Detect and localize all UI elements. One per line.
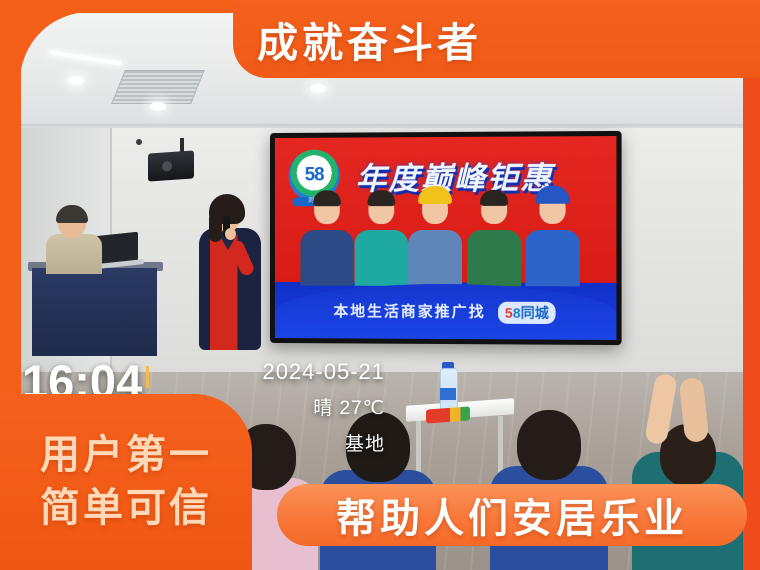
left-slogan-line1: 用户第一 [40, 429, 212, 482]
band-slogan: 本地生活商家推广找 [333, 303, 485, 321]
led-people-row [275, 189, 617, 287]
audience-head [517, 410, 581, 480]
fifty-eight-badge-icon: 58同城 [498, 301, 556, 323]
left-slogan-panel: 用户第一 简单可信 [0, 394, 252, 570]
bottom-slogan-banner: 帮助人们安居乐业 [277, 484, 747, 546]
top-slogan-banner: 成就奋斗者 [233, 0, 760, 78]
led-ad-bottom-band: 本地生活商家推广找 58同城 [275, 284, 617, 340]
sensor-dot [136, 139, 142, 145]
person-body [409, 230, 463, 286]
bottom-slogan-text: 帮助人们安居乐业 [336, 486, 688, 544]
frame-edge-right [743, 0, 760, 570]
downlight [310, 84, 326, 93]
presenter-hand [225, 228, 236, 240]
air-vent-icon [111, 70, 205, 104]
person-body [467, 230, 521, 286]
person-body [525, 230, 580, 286]
presenter [195, 194, 267, 369]
wall-speaker [148, 150, 194, 181]
badge-text: 同城 [521, 305, 549, 321]
left-slogan-line2: 简单可信 [40, 482, 212, 535]
timestamp-divider [146, 366, 149, 388]
downlight [150, 102, 166, 111]
person-hair [480, 189, 508, 205]
person-hair [313, 190, 341, 206]
host-body [46, 234, 102, 274]
top-slogan-text: 成就奋斗者 [257, 9, 482, 69]
person-hair [367, 190, 395, 206]
host-hair [56, 205, 88, 223]
timestamp-date: 2024-05-21 [150, 360, 385, 384]
person-body [354, 231, 408, 287]
logo-number: 58 [305, 165, 324, 187]
bottle-label [440, 388, 456, 400]
downlight [68, 76, 84, 85]
promo-image-card: 58 同城 年度巅峰钜惠 [0, 0, 760, 570]
host-desk [32, 268, 157, 356]
badge-five: 5 [505, 304, 513, 320]
seated-host [44, 208, 104, 270]
person-body [300, 231, 353, 287]
led-display: 58 同城 年度巅峰钜惠 [270, 131, 622, 345]
presenter-hair-side [209, 212, 222, 242]
